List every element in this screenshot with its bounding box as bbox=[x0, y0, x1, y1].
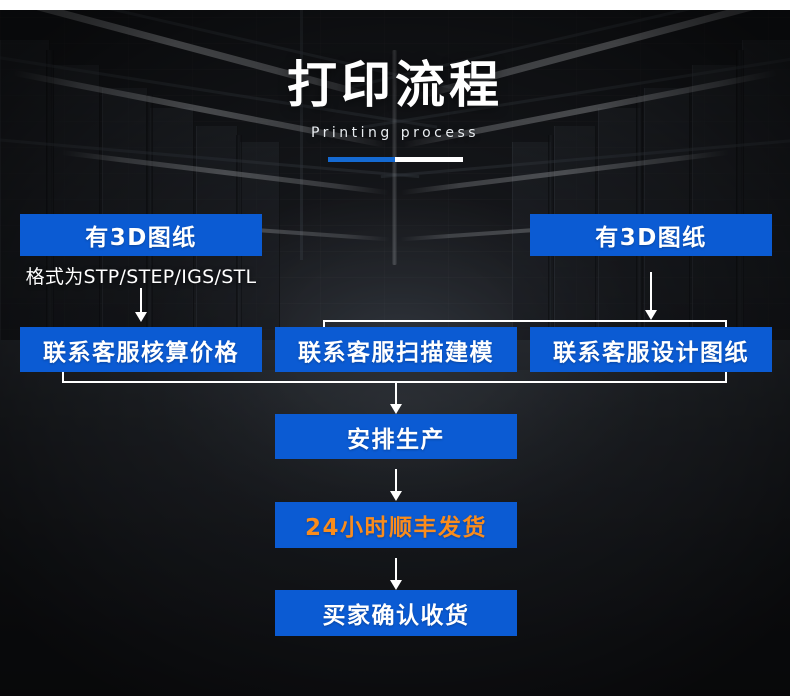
header: 打印流程 Printing process bbox=[0, 58, 790, 162]
title-underline bbox=[328, 157, 463, 162]
title-underline-accent-segment bbox=[328, 157, 395, 162]
top-white-strip bbox=[0, 0, 790, 10]
content-layer: 打印流程 Printing process 有3D图纸 有3D图纸 格式为STP… bbox=[0, 0, 790, 696]
flow-box-has-3d-drawing-right[interactable]: 有3D图纸 bbox=[530, 214, 772, 256]
flow-box-contact-support-quote[interactable]: 联系客服核算价格 bbox=[20, 327, 262, 372]
arrow-left-column-down bbox=[131, 288, 151, 322]
caption-file-formats: 格式为STP/STEP/IGS/STL bbox=[20, 262, 262, 289]
arrow-to-buyer-confirm bbox=[386, 558, 406, 590]
arrow-to-shipping bbox=[386, 469, 406, 501]
page-subtitle: Printing process bbox=[0, 125, 790, 141]
connector-top-bracket-horizontal bbox=[323, 320, 727, 322]
flow-box-arrange-production[interactable]: 安排生产 bbox=[275, 414, 517, 459]
flow-box-has-3d-drawing-left[interactable]: 有3D图纸 bbox=[20, 214, 262, 256]
arrow-to-arrange-production bbox=[386, 382, 406, 414]
page-title: 打印流程 bbox=[0, 58, 790, 113]
flow-box-24h-sf-shipping[interactable]: 24小时顺丰发货 bbox=[275, 502, 517, 548]
arrow-right-column-down bbox=[641, 272, 661, 320]
title-underline-white-segment bbox=[395, 157, 463, 162]
flow-box-buyer-confirm-receipt[interactable]: 买家确认收货 bbox=[275, 590, 517, 636]
flow-box-contact-support-design-drawing[interactable]: 联系客服设计图纸 bbox=[530, 327, 772, 372]
flow-box-contact-support-scan-model[interactable]: 联系客服扫描建模 bbox=[275, 327, 517, 372]
printing-process-infographic: 打印流程 Printing process 有3D图纸 有3D图纸 格式为STP… bbox=[0, 0, 790, 696]
